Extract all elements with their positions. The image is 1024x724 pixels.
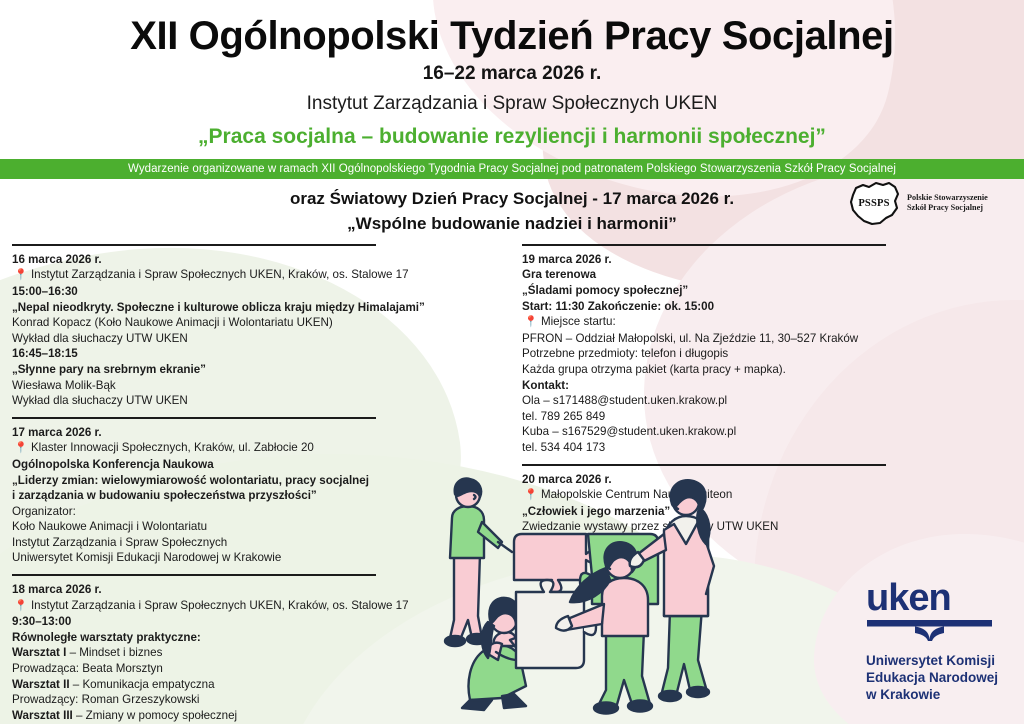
workshop-topic: – Zmiany w pomocy społecznej: [73, 709, 237, 722]
contact-phone-kuba: tel. 534 404 173: [522, 440, 1012, 456]
entry-line: „Nepal nieodkryty. Społeczne i kulturowe…: [12, 300, 402, 316]
uken-name-line-2: Edukacja Narodowej: [866, 669, 1006, 686]
workshop-topic: – Komunikacja empatyczna: [70, 678, 215, 691]
entry-line: 9:30–13:00: [12, 614, 402, 630]
venue-text: Klaster Innowacji Społecznych, Kraków, u…: [31, 441, 314, 454]
entry-venue: 📍 Klaster Innowacji Społecznych, Kraków,…: [12, 440, 402, 457]
workshop-label: Warsztat II: [12, 678, 70, 691]
uken-name-line-1: Uniwersytet Komisji: [866, 652, 1006, 669]
entry-line: 16:45–18:15: [12, 346, 402, 362]
workshop-topic: – Mindset i biznes: [66, 646, 162, 659]
section-divider: [12, 244, 376, 246]
entry-line: Równoległe warsztaty praktyczne:: [12, 630, 402, 646]
poster-header: XII Ogólnopolski Tydzień Pracy Socjalnej…: [0, 14, 1024, 149]
pssps-logo: PSSPS Polskie Stowarzyszenie Szkół Pracy…: [846, 174, 1006, 232]
workshop-line: Warsztat III – Zmiany w pomocy społeczne…: [12, 708, 402, 724]
event-dates: 16–22 marca 2026 r.: [24, 63, 1000, 85]
entry-line: Wiesława Molik-Bąk: [12, 378, 402, 394]
contact-email-ola[interactable]: Ola – s171488@student.uken.krakow.pl: [522, 393, 1012, 409]
entry-line: Każda grupa otrzyma pakiet (karta pracy …: [522, 362, 1012, 378]
pssps-acronym: PSSPS: [858, 198, 889, 209]
entry-line: Organizator:: [12, 504, 402, 520]
workshop-label: Warsztat I: [12, 646, 66, 659]
entry-venue: 📍 Miejsce startu:: [522, 314, 1012, 331]
programme-entry-19-march: 19 marca 2026 r. Gra terenowa „Śladami p…: [522, 252, 1012, 456]
venue-text: Instytut Zarządzania i Spraw Społecznych…: [31, 599, 409, 612]
programme-entry-16-march: 16 marca 2026 r. 📍 Instytut Zarządzania …: [12, 252, 402, 409]
entry-line: Ogólnopolska Konferencja Naukowa: [12, 457, 402, 473]
section-divider: [12, 417, 376, 419]
venue-text: Miejsce startu:: [541, 315, 616, 328]
uken-name-line-3: w Krakowie: [866, 686, 1006, 703]
page-title: XII Ogólnopolski Tydzień Pracy Socjalnej: [24, 14, 1000, 59]
entry-line: Gra terenowa: [522, 267, 1012, 283]
entry-venue: 📍 Instytut Zarządzania i Spraw Społeczny…: [12, 598, 402, 615]
entry-line: Uniwersytet Komisji Edukacji Narodowej w…: [12, 550, 402, 566]
section-divider: [12, 574, 376, 576]
uken-logo: uken Uniwersytet Komisji Edukacja Narodo…: [866, 578, 1006, 703]
entry-line: PFRON – Oddział Małopolski, ul. Na Zjeźd…: [522, 331, 1012, 347]
map-pin-icon: 📍: [14, 442, 28, 454]
entry-line: Prowadząca: Beata Morsztyn: [12, 661, 402, 677]
entry-line: Instytut Zarządzania i Spraw Społecznych: [12, 535, 402, 551]
entry-line: Wykład dla słuchaczy UTW UKEN: [12, 393, 402, 409]
entry-line: „Liderzy zmian: wielowymiarowość wolonta…: [12, 473, 402, 489]
pssps-name-line-1: Polskie Stowarzyszenie: [907, 193, 988, 204]
entry-venue: 📍 Instytut Zarządzania i Spraw Społeczny…: [12, 267, 402, 284]
entry-line: „Słynne pary na srebrnym ekranie”: [12, 362, 402, 378]
pssps-name-line-2: Szkół Pracy Socjalnej: [907, 203, 988, 214]
poland-map-icon: PSSPS: [846, 177, 902, 229]
section-divider: [522, 464, 886, 466]
workshop-label: Warsztat III: [12, 709, 73, 722]
uken-wordmark: uken: [866, 578, 1006, 618]
entry-date: 16 marca 2026 r.: [12, 252, 402, 268]
entry-line: „Śladami pomocy społecznej”: [522, 283, 1012, 299]
entry-line: Wykład dla słuchaczy UTW UKEN: [12, 331, 402, 347]
entry-date: 19 marca 2026 r.: [522, 252, 1012, 268]
programme-entry-18-march: 18 marca 2026 r. 📍 Instytut Zarządzania …: [12, 582, 402, 724]
poster-canvas: XII Ogólnopolski Tydzień Pracy Socjalnej…: [0, 0, 1024, 724]
pssps-name: Polskie Stowarzyszenie Szkół Pracy Socja…: [907, 193, 988, 214]
entry-line: Koło Naukowe Animacji i Wolontariatu: [12, 519, 402, 535]
uken-full-name: Uniwersytet Komisji Edukacja Narodowej w…: [866, 652, 1006, 703]
contact-email-kuba[interactable]: Kuba – s167529@student.uken.krakow.pl: [522, 424, 1012, 440]
map-pin-icon: 📍: [524, 316, 538, 328]
contact-phone-ola: tel. 789 265 849: [522, 409, 1012, 425]
entry-line: Prowadzący: Roman Grzeszykowski: [12, 692, 402, 708]
programme-entry-17-march: 17 marca 2026 r. 📍 Klaster Innowacji Spo…: [12, 425, 402, 566]
entry-line: i zarządzania w budowaniu społeczeństwa …: [12, 488, 402, 504]
entry-line: Potrzebne przedmioty: telefon i długopis: [522, 346, 1012, 362]
entry-date: 18 marca 2026 r.: [12, 582, 402, 598]
workshop-line: Warsztat II – Komunikacja empatyczna: [12, 677, 402, 693]
entry-line: Konrad Kopacz (Koło Naukowe Animacji i W…: [12, 315, 402, 331]
puzzle-teamwork-illustration: [418, 468, 718, 720]
event-theme: „Praca socjalna – budowanie rezyliencji …: [24, 125, 1000, 149]
entry-line: Start: 11:30 Zakończenie: ok. 15:00: [522, 299, 1012, 315]
entry-date: 17 marca 2026 r.: [12, 425, 402, 441]
contact-label: Kontakt:: [522, 378, 1012, 394]
entry-line: 15:00–16:30: [12, 284, 402, 300]
map-pin-icon: 📍: [14, 600, 28, 612]
venue-text: Instytut Zarządzania i Spraw Społecznych…: [31, 268, 409, 281]
organizing-institute: Instytut Zarządzania i Spraw Społecznych…: [24, 93, 1000, 115]
open-book-icon: [867, 620, 992, 642]
section-divider: [522, 244, 886, 246]
map-pin-icon: 📍: [14, 269, 28, 281]
workshop-line: Warsztat I – Mindset i biznes: [12, 645, 402, 661]
